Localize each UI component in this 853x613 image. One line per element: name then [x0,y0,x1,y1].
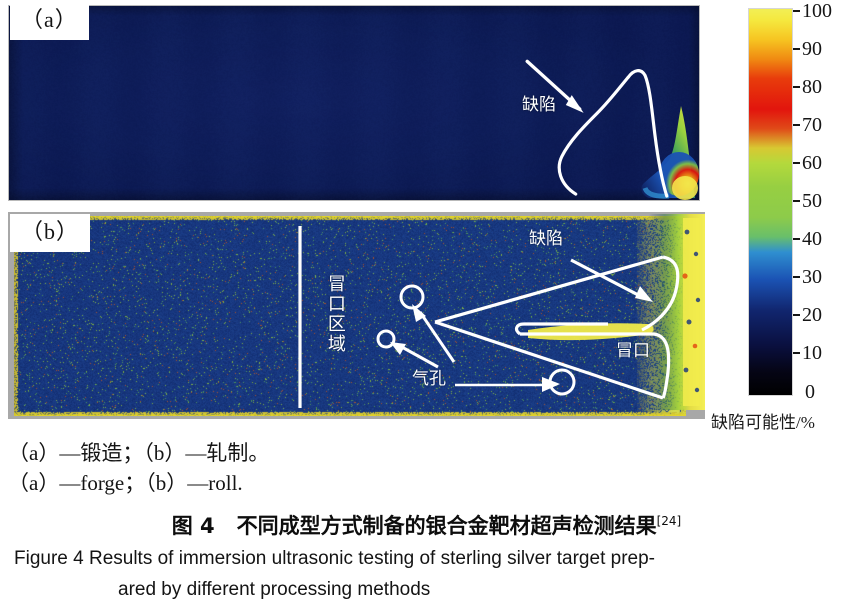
defect-outline-a-lower [559,77,628,194]
colorbar-axis-title: 缺陷可能性/% [711,408,815,433]
colorbar-tick-60 [793,162,800,164]
riser-zone-label: 冒口区域 [326,274,345,354]
colorbar-label-30: 30 [802,267,822,287]
caption-title-en-line2: ared by different processing methods [0,574,853,605]
panel-a-forged-cscan: 缺陷 [8,5,700,201]
caption-reference-marker: [24] [657,514,682,528]
figure-area: 缺陷 （a） [0,0,853,440]
defect-label-b: 缺陷 [529,230,563,248]
colorbar-label-40: 40 [802,229,822,249]
panel-a-letter: （a） [10,2,89,40]
panel-b-letter: （b） [10,214,90,252]
colorbar-gradient [748,8,793,396]
colorbar-label-10: 10 [802,343,822,363]
porosity-leader-2 [400,346,438,367]
subcaption-en: （a）—forge；（b）—roll. [0,468,853,498]
colorbar-label-70: 70 [802,115,822,135]
colorbar-label-20: 20 [802,305,822,325]
defect-label-a: 缺陷 [522,96,556,114]
colorbar-label-50: 50 [802,191,822,211]
caption-title-cn: 图 4 不同成型方式制备的银合金靶材超声检测结果[24] [0,498,853,543]
porosity-label: 气孔 [412,370,446,388]
colorbar-label-90: 90 [802,39,822,59]
colorbar-tick-80 [793,86,800,88]
colorbar-tick-100 [793,10,800,12]
colorbar-tick-10 [793,352,800,354]
colorbar-label-0: 0 [805,382,815,402]
colorbar-tick-30 [793,276,800,278]
defect-arrowhead-b [635,286,653,302]
panel-a-annotation-overlay [9,6,699,200]
figure-captions: （a）—锻造；（b）—轧制。 （a）—forge；（b）—roll. 图 4 不… [0,438,853,605]
riser-label: 冒口 [616,342,650,360]
panel-b-rolled-cscan: 冒口区域 缺陷 气孔 冒口 [8,212,705,419]
colorbar-tick-70 [793,124,800,126]
caption-title-cn-text: 不同成型方式制备的银合金靶材超声检测结果 [237,514,657,538]
colorbar-label-80: 80 [802,77,822,97]
porosity-circle-1 [401,286,423,308]
caption-title-cn-prefix: 图 4 [172,514,215,538]
colorbar-tick-40 [793,238,800,240]
panel-b-annotation-overlay [8,212,705,419]
colorbar-tick-20 [793,314,800,316]
colorbar-tick-90 [793,48,800,50]
colorbar-label-100: 100 [802,1,832,21]
porosity-circle-2 [378,331,394,347]
caption-title-en-line1: Figure 4 Results of immersion ultrasonic… [0,543,853,574]
subcaption-cn: （a）—锻造；（b）—轧制。 [0,438,853,468]
colorbar: 100 90 80 70 60 50 40 30 20 10 0 缺陷可能性/% [748,8,853,428]
defect-outline-a [628,71,667,196]
riser-outline-upper [642,257,678,330]
colorbar-label-60: 60 [802,153,822,173]
colorbar-tick-50 [793,200,800,202]
